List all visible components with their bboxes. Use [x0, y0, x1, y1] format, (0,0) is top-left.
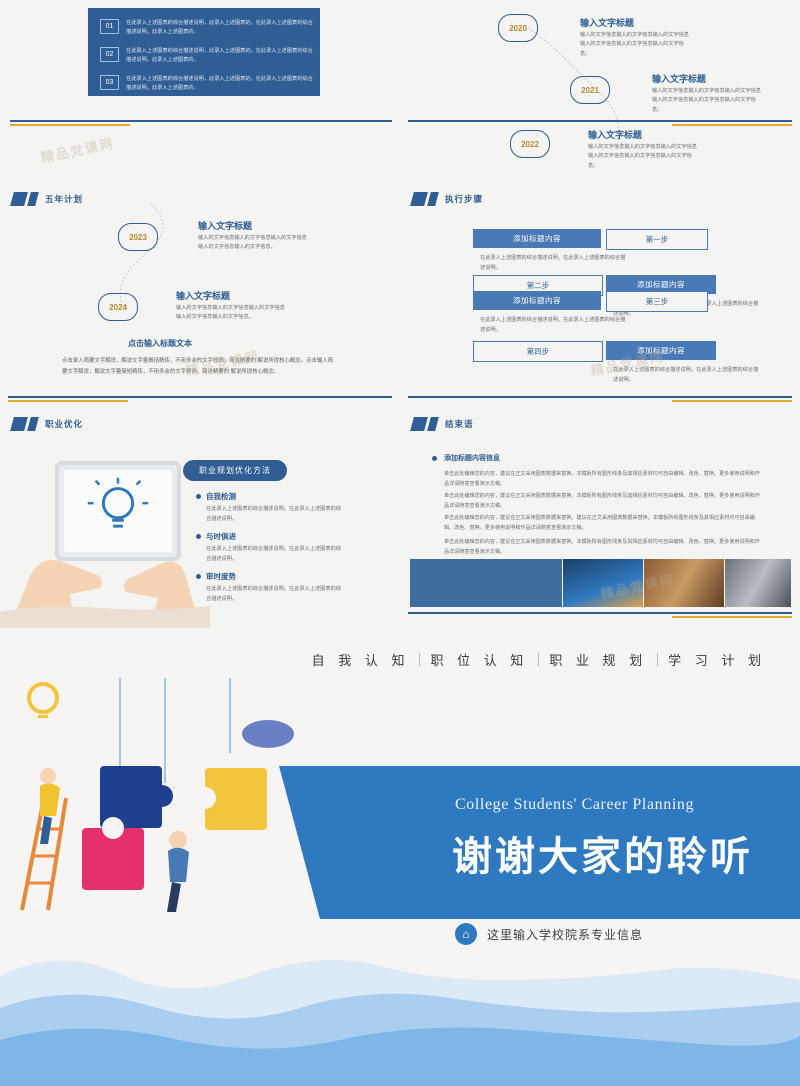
section-tag: 职业优化 [12, 417, 83, 431]
tag-shape [10, 417, 28, 431]
slide-4: 执行步骤 添加标题内容 第一步 在此录入上述图表的综合描述说明。在此录入上述图表… [400, 181, 800, 406]
photo-1 [410, 559, 562, 607]
divider-accent [672, 400, 792, 402]
year-badge: 2021 [570, 76, 610, 104]
sub-title: 点击输入标题文本 [128, 338, 192, 349]
item-text: 在此录入上述图表的综合描述说明，此录入上述图表的，在此录入上述图表的综合描述说明… [126, 75, 316, 93]
end-paragraph-4: 单击此处编辑您的内容，建议在正文采用图表数据来替换。本模板所有图形线条及其相应素… [444, 538, 764, 558]
nav-item-self-awareness[interactable]: 自 我 认 知 [302, 650, 420, 669]
bullet-dot-icon [196, 534, 201, 539]
bullet-body: 在此录入上述图表的综合描述说明。在此录入上述图表的综合描述说明。 [206, 505, 341, 525]
list-item: 01 在此录入上述图表的综合描述说明，此录入上述图表的，在此录入上述图表的综合描… [100, 19, 316, 37]
nav-item-study-plan[interactable]: 学 习 计 划 [658, 650, 776, 669]
item-title: 输入文字标题 [588, 128, 642, 141]
end-paragraph-1: 单击此处编辑您的内容，建议在正文采用图表数据来替换。本模板所有图形线条及其相应素… [444, 470, 764, 490]
nav-item-position-awareness[interactable]: 职 位 认 知 [420, 650, 538, 669]
divider-accent [10, 124, 130, 126]
bullet-item-2: 与时俱进 在此录入上述图表的综合描述说明。在此录入上述图表的综合描述说明。 [196, 531, 341, 565]
tag-shape [410, 192, 428, 206]
item-body: 输入的文字信息输入的文字信息输入的文字信息输入的文字信息输入的文字信息输入的文字… [652, 87, 762, 115]
year-badge: 2024 [98, 293, 138, 321]
step-label-3: 第三步 [606, 291, 708, 312]
step-button-4[interactable]: 添加标题内容 [606, 341, 716, 360]
photo-2-cityscape [563, 559, 643, 607]
photo-3-library [644, 559, 724, 607]
navy-content-box: 01 在此录入上述图表的综合描述说明，此录入上述图表的，在此录入上述图表的综合描… [88, 8, 320, 96]
item-body: 输入的文字信息输入的文字信息输入的文字信息输入的文字信息输入的文字信息输入的文字… [588, 143, 698, 171]
slide-2: 2020 输入文字标题 输入的文字信息输入的文字信息输入的文字信息输入的文字信息… [400, 0, 800, 181]
year-badge: 2022 [510, 130, 550, 158]
step-button-1[interactable]: 添加标题内容 [473, 229, 601, 248]
bullet-body: 在此录入上述图表的综合描述说明。在此录入上述图表的综合描述说明。 [206, 585, 341, 605]
item-title: 输入文字标题 [580, 16, 634, 29]
body-paragraph: 点击录入简要文字解说，解说文字量概括精炼，不用多余的文字修饰，简洁精要的 解说所… [62, 356, 338, 378]
wave-decoration [0, 936, 800, 1086]
step-label-1: 第一步 [606, 229, 708, 250]
item-title: 输入文字标题 [652, 72, 706, 85]
divider-line [408, 612, 792, 614]
slide-5: 职业优化 职业规划优化方法 自我检测 在此录入上述图表的综合描述说明。在此录入上… [0, 406, 400, 628]
item-number: 01 [100, 19, 119, 34]
year-badge: 2020 [498, 14, 538, 42]
nav-item-career-planning[interactable]: 职 业 规 划 [539, 650, 657, 669]
item-body: 输入的文字信息输入的文字信息输入的文字信息输入的文字信息输入的文字信息。 [176, 304, 286, 323]
slide-3: 五年计划 2023 输入文字标题 输入的文字信息输入的文字信息输入的文字信息输入… [0, 181, 400, 406]
list-item: 03 在此录入上述图表的综合描述说明，此录入上述图表的，在此录入上述图表的综合描… [100, 75, 316, 93]
bullet-title: 自我检测 [206, 491, 341, 502]
tag-shape-small [427, 417, 439, 431]
method-pill-button[interactable]: 职业规划优化方法 [183, 460, 287, 481]
slide-1: 01 在此录入上述图表的综合描述说明，此录入上述图表的，在此录入上述图表的综合描… [0, 0, 400, 181]
bullet-body: 在此录入上述图表的综合描述说明。在此录入上述图表的综合描述说明。 [206, 545, 341, 565]
tag-shape-small [427, 192, 439, 206]
item-title: 输入文字标题 [176, 289, 230, 302]
slide-6: 结束语 添加标题内容信息 单击此处编辑您的内容，建议在正文采用图表数据来替换。本… [400, 406, 800, 628]
nav-menu: 自 我 认 知 职 位 认 知 职 业 规 划 学 习 计 划 [302, 650, 776, 669]
english-title: College Students' Career Planning [455, 796, 694, 814]
section-tag: 执行步骤 [412, 192, 483, 206]
item-body: 输入的文字信息输入的文字信息输入的文字信息输入的文字信息输入的文字信息。 [198, 234, 308, 253]
divider-line [408, 396, 792, 398]
bullet-title: 与时俱进 [206, 531, 341, 542]
bullet-dot-icon [196, 574, 201, 579]
item-number: 02 [100, 47, 119, 62]
divider-line [8, 396, 392, 398]
photo-4-meeting [725, 559, 791, 607]
hands-illustration [0, 516, 210, 628]
year-badge: 2023 [118, 223, 158, 251]
step-desc-3: 在此录入上述图表的综合描述说明。在此录入上述图表的综合描述说明。 [480, 316, 630, 335]
bullet-dot-icon [196, 494, 201, 499]
item-text: 在此录入上述图表的综合描述说明，此录入上述图表的，在此录入上述图表的综合描述说明… [126, 47, 316, 65]
end-paragraph-3: 单击此处编辑您的内容，建议在正文采用图表数据来替换。建议在正文采用图表数据来替换… [444, 514, 764, 534]
item-number: 03 [100, 75, 119, 90]
divider-line [10, 120, 392, 122]
watermark: 精品党课网 [39, 132, 116, 166]
item-title: 输入文字标题 [198, 219, 252, 232]
step-desc-1: 在此录入上述图表的综合描述说明。在此录入上述图表的综合描述说明。 [480, 254, 630, 273]
divider-accent [672, 616, 792, 618]
bullet-dot-icon [432, 456, 437, 461]
end-paragraph-2: 单击此处编辑您的内容，建议在正文采用图表数据来替换。本模板所有图形线条及其相应素… [444, 492, 764, 512]
final-slide: 自 我 认 知 职 位 认 知 职 业 规 划 学 习 计 划 [0, 628, 800, 1086]
item-body: 输入的文字信息输入的文字信息输入的文字信息输入的文字信息输入的文字信息输入的文字… [580, 31, 690, 59]
tag-shape [410, 417, 428, 431]
divider-accent [8, 400, 128, 402]
step-label-4: 第四步 [473, 341, 603, 362]
bullet-item-1: 自我检测 在此录入上述图表的综合描述说明。在此录入上述图表的综合描述说明。 [196, 491, 341, 525]
divider-line [408, 120, 792, 122]
item-text: 在此录入上述图表的综合描述说明，此录入上述图表的，在此录入上述图表的综合描述说明… [126, 19, 316, 37]
list-item: 02 在此录入上述图表的综合描述说明，此录入上述图表的，在此录入上述图表的综合描… [100, 47, 316, 65]
step-button-3[interactable]: 添加标题内容 [473, 291, 601, 310]
section-tag: 结束语 [412, 417, 474, 431]
tag-shape-small [27, 417, 39, 431]
section-tag-label: 职业优化 [45, 418, 83, 430]
step-desc-4: 在此录入上述图表的综合描述说明。在此录入上述图表的综合描述说明。 [613, 366, 763, 385]
divider-accent [672, 124, 792, 126]
end-heading: 添加标题内容信息 [444, 453, 500, 463]
puzzle-illustration [0, 678, 320, 978]
bullet-item-3: 审时度势 在此录入上述图表的综合描述说明。在此录入上述图表的综合描述说明。 [196, 571, 341, 605]
chinese-title: 谢谢大家的聆听 [452, 824, 753, 882]
section-tag-label: 执行步骤 [445, 193, 483, 205]
bullet-title: 审时度势 [206, 571, 341, 582]
section-tag-label: 结束语 [445, 418, 474, 430]
